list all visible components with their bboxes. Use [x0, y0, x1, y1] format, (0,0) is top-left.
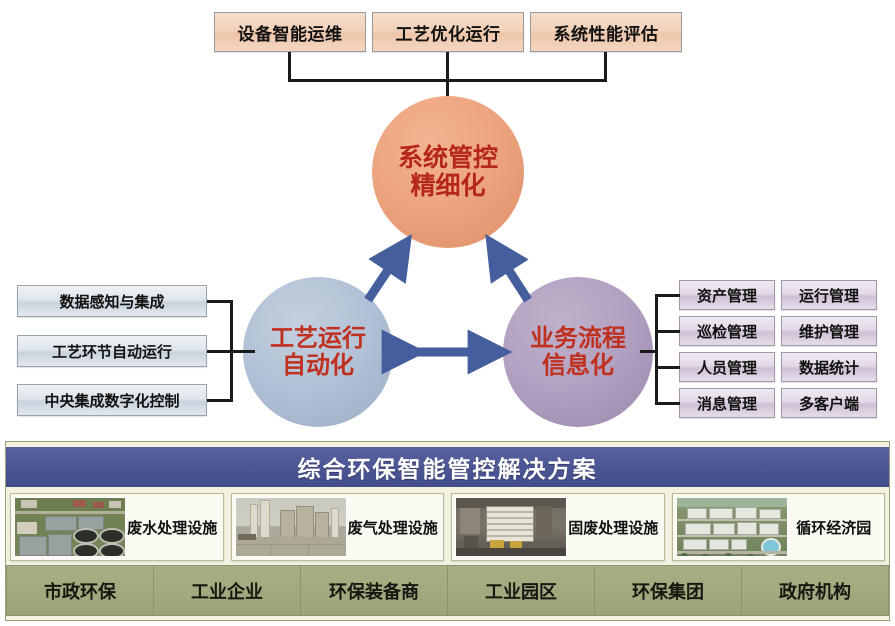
left-box-0: 数据感知与集成	[17, 285, 207, 317]
top-box-2: 系统性能评估	[530, 12, 682, 52]
facility-card-label: 固废处理设施	[567, 517, 664, 538]
facility-card-list: 废水处理设施 废气处理设施	[10, 493, 885, 561]
left-box-label: 中央集成数字化控制	[44, 390, 179, 411]
right-grid-label: 巡检管理	[697, 321, 757, 342]
right-grid-2-right: 数据统计	[781, 352, 877, 382]
right-grid-label: 消息管理	[697, 393, 757, 414]
connector-right-stub-1	[655, 330, 680, 333]
top-box-label: 系统性能评估	[554, 20, 659, 45]
circle-right-business-informatization: 业务流程 信息化	[503, 277, 653, 427]
facility-card-waste-gas[interactable]: 废气处理设施	[231, 493, 445, 561]
wastewater-plant-photo	[14, 497, 126, 557]
top-box-label: 设备智能运维	[238, 20, 343, 45]
segment-cell-3[interactable]: 工业园区	[448, 566, 595, 615]
circle-left-line1: 工艺运行	[270, 325, 366, 352]
top-box-0: 设备智能运维	[214, 12, 366, 52]
segment-label: 工业园区	[485, 578, 557, 604]
circle-top-line1: 系统管控	[398, 144, 498, 172]
right-grid-label: 运行管理	[799, 285, 859, 306]
eco-industrial-park-photo	[676, 497, 788, 557]
top-box-1: 工艺优化运行	[372, 12, 524, 52]
connector-left-to-circle	[230, 350, 255, 353]
facility-card-wastewater[interactable]: 废水处理设施	[10, 493, 224, 561]
connector-right-stub-2	[655, 366, 680, 369]
left-box-label: 工艺环节自动运行	[52, 341, 172, 362]
circle-top-system-control: 系统管控 精细化	[372, 96, 524, 248]
segment-label: 工业企业	[191, 578, 263, 604]
right-grid-label: 维护管理	[799, 321, 859, 342]
segment-label: 环保装备商	[329, 578, 419, 604]
connector-right-to-circle	[640, 350, 658, 353]
customer-segment-row: 市政环保 工业企业 环保装备商 工业园区 环保集团 政府机构	[6, 565, 889, 616]
left-box-1: 工艺环节自动运行	[17, 335, 207, 367]
right-grid-0-left: 资产管理	[679, 280, 775, 310]
segment-label: 市政环保	[44, 578, 116, 604]
left-box-label: 数据感知与集成	[59, 291, 164, 312]
right-grid-3-left: 消息管理	[679, 388, 775, 418]
arrow-left-to-top-icon	[368, 252, 400, 300]
left-box-2: 中央集成数字化控制	[17, 384, 207, 416]
right-grid-3-right: 多客户端	[781, 388, 877, 418]
connector-top-stub-1	[446, 52, 449, 81]
segment-cell-4[interactable]: 环保集团	[595, 566, 742, 615]
solution-banner-title: 综合环保智能管控解决方案	[298, 450, 598, 484]
top-box-label: 工艺优化运行	[396, 20, 501, 45]
facility-card-solid-waste[interactable]: 固废处理设施	[451, 493, 665, 561]
arrow-right-to-top-icon	[497, 252, 528, 300]
segment-label: 政府机构	[779, 578, 851, 604]
circle-top-line2: 精细化	[410, 172, 485, 200]
circle-left-line2: 自动化	[282, 352, 354, 379]
connector-top-stub-0	[288, 52, 291, 81]
segment-cell-0[interactable]: 市政环保	[7, 566, 154, 615]
right-grid-label: 多客户端	[799, 393, 859, 414]
connector-top-stub-2	[604, 52, 607, 81]
diagram-canvas: 设备智能运维 工艺优化运行 系统性能评估 系统管控 精细化 工艺运行 自动化 业…	[0, 0, 895, 626]
circle-right-line1: 业务流程	[530, 325, 626, 352]
flue-gas-stacks-photo	[235, 497, 347, 557]
right-grid-1-right: 维护管理	[781, 316, 877, 346]
facility-card-label: 循环经济园	[788, 517, 885, 538]
connector-right-stub-3	[655, 402, 680, 405]
segment-label: 环保集团	[632, 578, 704, 604]
segment-cell-1[interactable]: 工业企业	[154, 566, 301, 615]
solid-waste-equipment-photo	[455, 497, 567, 557]
right-grid-2-left: 人员管理	[679, 352, 775, 382]
circle-right-line2: 信息化	[542, 352, 614, 379]
circle-left-process-automation: 工艺运行 自动化	[243, 277, 393, 427]
solution-banner: 综合环保智能管控解决方案	[6, 447, 889, 487]
right-grid-label: 数据统计	[799, 357, 859, 378]
facility-card-label: 废水处理设施	[126, 517, 223, 538]
connector-right-stub-0	[655, 294, 680, 297]
right-grid-1-left: 巡检管理	[679, 316, 775, 346]
segment-cell-2[interactable]: 环保装备商	[301, 566, 448, 615]
facility-card-label: 废气处理设施	[347, 517, 444, 538]
right-grid-0-right: 运行管理	[781, 280, 877, 310]
facility-card-eco-park[interactable]: 循环经济园	[672, 493, 886, 561]
right-grid-label: 资产管理	[697, 285, 757, 306]
right-grid-label: 人员管理	[697, 357, 757, 378]
segment-cell-5[interactable]: 政府机构	[742, 566, 888, 615]
